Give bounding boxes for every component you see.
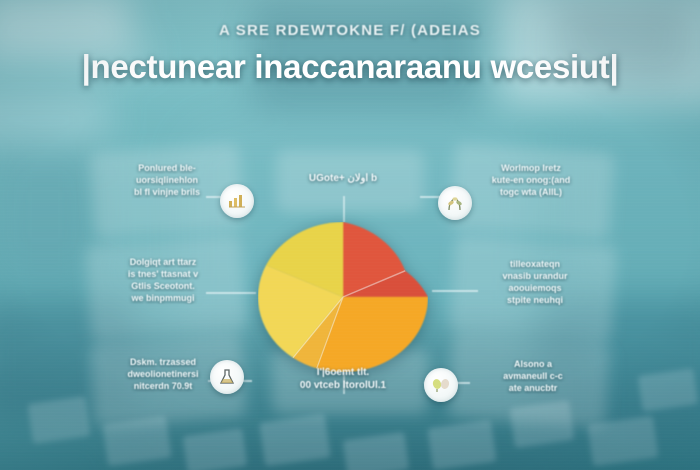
callout-right-1-line-0: Worlmop Iretz [472, 162, 590, 174]
callout-left-2: Dolgiqt art ttarz is tnes' ttasnat v Gtl… [104, 256, 222, 304]
callout-right-1-line-2: togc wta (AIIL) [472, 186, 590, 198]
callout-right-1: Worlmop Iretz kute-en onog:(and togc wta… [472, 162, 590, 198]
callout-center-top-line-0: UGote+ اولان b [268, 172, 418, 185]
callout-left-2-line-0: Dolgiqt art ttarz [104, 256, 222, 268]
infographic-poster: A SRE RDEWTOKNE F/ (ADEIAS |nectunear in… [0, 0, 700, 470]
callout-right-2-line-1: vnasib urandur [476, 270, 594, 282]
callout-right-3-line-1: avmaneull c-c [474, 370, 592, 382]
callout-left-1-line-0: Ponlured ble- [108, 162, 226, 174]
pie-chart[interactable] [258, 222, 428, 372]
page-title: |nectunear inaccanaraanu wcesiut| [0, 48, 700, 86]
callout-center-bottom-line-0: I'|6oemt tlt. [268, 366, 418, 379]
badge-right-3[interactable] [424, 368, 458, 402]
callout-right-1-line-1: kute-en onog:(and [472, 174, 590, 186]
callout-left-1: Ponlured ble- uorsiqlinehlon bl fl vinjn… [108, 162, 226, 198]
plant-icon [445, 195, 465, 211]
callout-center-bottom: I'|6oemt tlt. 00 vtceb ltorolUl.1 [268, 366, 418, 392]
badge-right-1[interactable] [438, 186, 472, 220]
callout-left-2-line-3: we binpmmugi [104, 292, 222, 304]
callout-center-top: UGote+ اولان b [268, 172, 418, 185]
callout-right-3-line-0: Alsono a [474, 358, 592, 370]
callout-center-bottom-line-1: 00 vtceb ltorolUl.1 [268, 379, 418, 392]
callout-left-1-line-2: bl fl vinjne brils [108, 186, 226, 198]
callout-right-2-line-3: stpite neuhqi [476, 294, 594, 306]
poster-eyebrow: A SRE RDEWTOKNE F/ (ADEIAS [0, 22, 700, 39]
callout-left-2-line-2: Gtlis Sceotont. [104, 280, 222, 292]
callout-right-2-line-2: aoouiemoqs [476, 282, 594, 294]
callout-left-2-line-1: is tnes' ttasnat v [104, 268, 222, 280]
callout-right-3-line-2: ate anucbtr [474, 382, 592, 394]
callout-right-2: tilleoxateqn vnasib urandur aoouiemoqs s… [476, 258, 594, 306]
callout-left-3-line-1: dweolionetinersi [104, 368, 222, 380]
callout-left-3-line-2: nitcerdn 70.9t [104, 380, 222, 392]
poster-header: A SRE RDEWTOKNE F/ (ADEIAS |nectunear in… [0, 22, 700, 86]
leaf-icon [431, 377, 451, 393]
pie-chart-svg[interactable] [258, 222, 428, 372]
callout-left-3: Dskm. trzassed dweolionetinersi nitcerdn… [104, 356, 222, 392]
callout-left-3-line-0: Dskm. trzassed [104, 356, 222, 368]
callout-right-2-line-0: tilleoxateqn [476, 258, 594, 270]
callout-left-1-line-1: uorsiqlinehlon [108, 174, 226, 186]
bar-chart-icon [228, 194, 246, 208]
callout-right-3: Alsono a avmaneull c-c ate anucbtr [474, 358, 592, 394]
